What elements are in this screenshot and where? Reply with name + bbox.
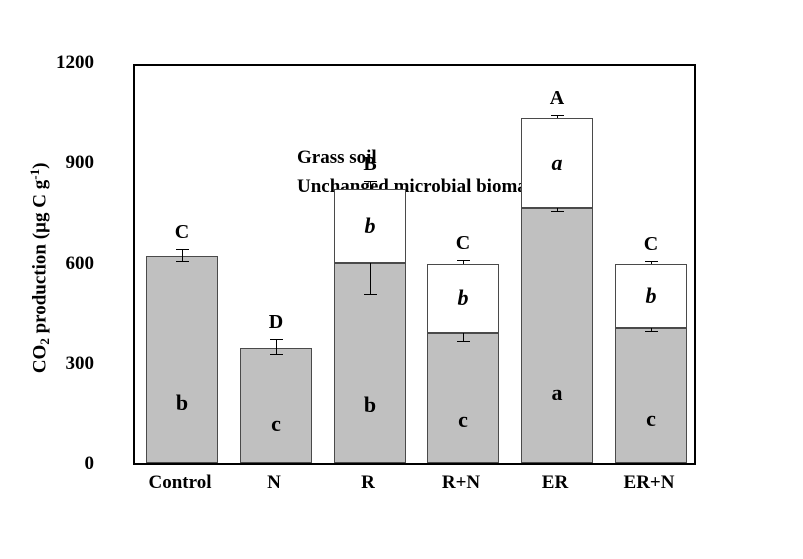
y-axis-title-sub: 2 (37, 338, 52, 345)
bar-segment-lower[interactable]: c (240, 348, 312, 463)
segment-letter-lower: c (271, 411, 281, 437)
bar-significance-letter: A (521, 87, 593, 110)
segment-letter-upper: b (365, 213, 376, 239)
figure-canvas: CO2 production (µg C g-1) 03006009001200… (0, 0, 803, 559)
y-tick-label: 300 (34, 354, 94, 373)
bar-segment-lower[interactable]: c (427, 333, 499, 463)
bar-segment-upper[interactable]: b (427, 264, 499, 333)
bar-significance-letter: C (146, 221, 218, 244)
error-bar-cap-total (645, 261, 658, 262)
error-bar-lower (370, 263, 371, 295)
bar-segment-lower[interactable]: b (146, 256, 218, 463)
bar-segment-lower[interactable]: c (615, 328, 687, 463)
error-bar-cap-lower (176, 261, 189, 262)
segment-letter-upper: a (552, 150, 563, 176)
plot-area: Grass soil Unchanged microbial biomass b… (133, 64, 696, 465)
error-bar-cap-lower (270, 354, 283, 355)
bar-group[interactable]: cD (240, 62, 312, 463)
error-bar-cap-lower (645, 331, 658, 332)
bar-segment-lower[interactable]: a (521, 208, 593, 463)
y-tick-label: 900 (34, 153, 94, 172)
y-tick-label: 1200 (34, 53, 94, 72)
bar-group[interactable]: cbC (615, 62, 687, 463)
segment-letter-lower: a (552, 380, 563, 406)
error-bar-cap-total (176, 249, 189, 250)
error-bar-cap-total (364, 181, 377, 182)
segment-letter-lower: c (646, 406, 656, 432)
bar-segment-upper[interactable]: b (334, 189, 406, 263)
error-bar-total (557, 116, 558, 118)
y-tick-label: 600 (34, 254, 94, 273)
x-tick-label: ER+N (594, 472, 704, 494)
error-bar-total (651, 262, 652, 264)
error-bar-cap-lower (364, 294, 377, 295)
bar-significance-letter: C (427, 232, 499, 255)
segment-letter-lower: b (364, 392, 376, 418)
bar-significance-letter: B (334, 153, 406, 176)
error-bar-cap-total (270, 339, 283, 340)
error-bar-cap-total (551, 115, 564, 116)
bar-segment-upper[interactable]: b (615, 264, 687, 327)
bar-significance-letter: D (240, 311, 312, 334)
bar-group[interactable]: bC (146, 62, 218, 463)
segment-letter-upper: b (458, 285, 469, 311)
y-tick-label: 0 (34, 454, 94, 473)
error-bar-cap-lower (551, 211, 564, 212)
error-bar-total (370, 182, 371, 189)
error-bar-total (276, 340, 277, 347)
bar-segment-upper[interactable]: a (521, 118, 593, 208)
segment-letter-lower: b (176, 390, 188, 416)
bar-group[interactable]: aaA (521, 62, 593, 463)
error-bar-cap-lower (457, 341, 470, 342)
bar-group[interactable]: bbB (334, 62, 406, 463)
bar-significance-letter: C (615, 233, 687, 256)
segment-letter-upper: b (646, 283, 657, 309)
error-bar-cap-total (457, 260, 470, 261)
segment-letter-lower: c (458, 407, 468, 433)
bar-group[interactable]: cbC (427, 62, 499, 463)
error-bar-total (463, 261, 464, 264)
